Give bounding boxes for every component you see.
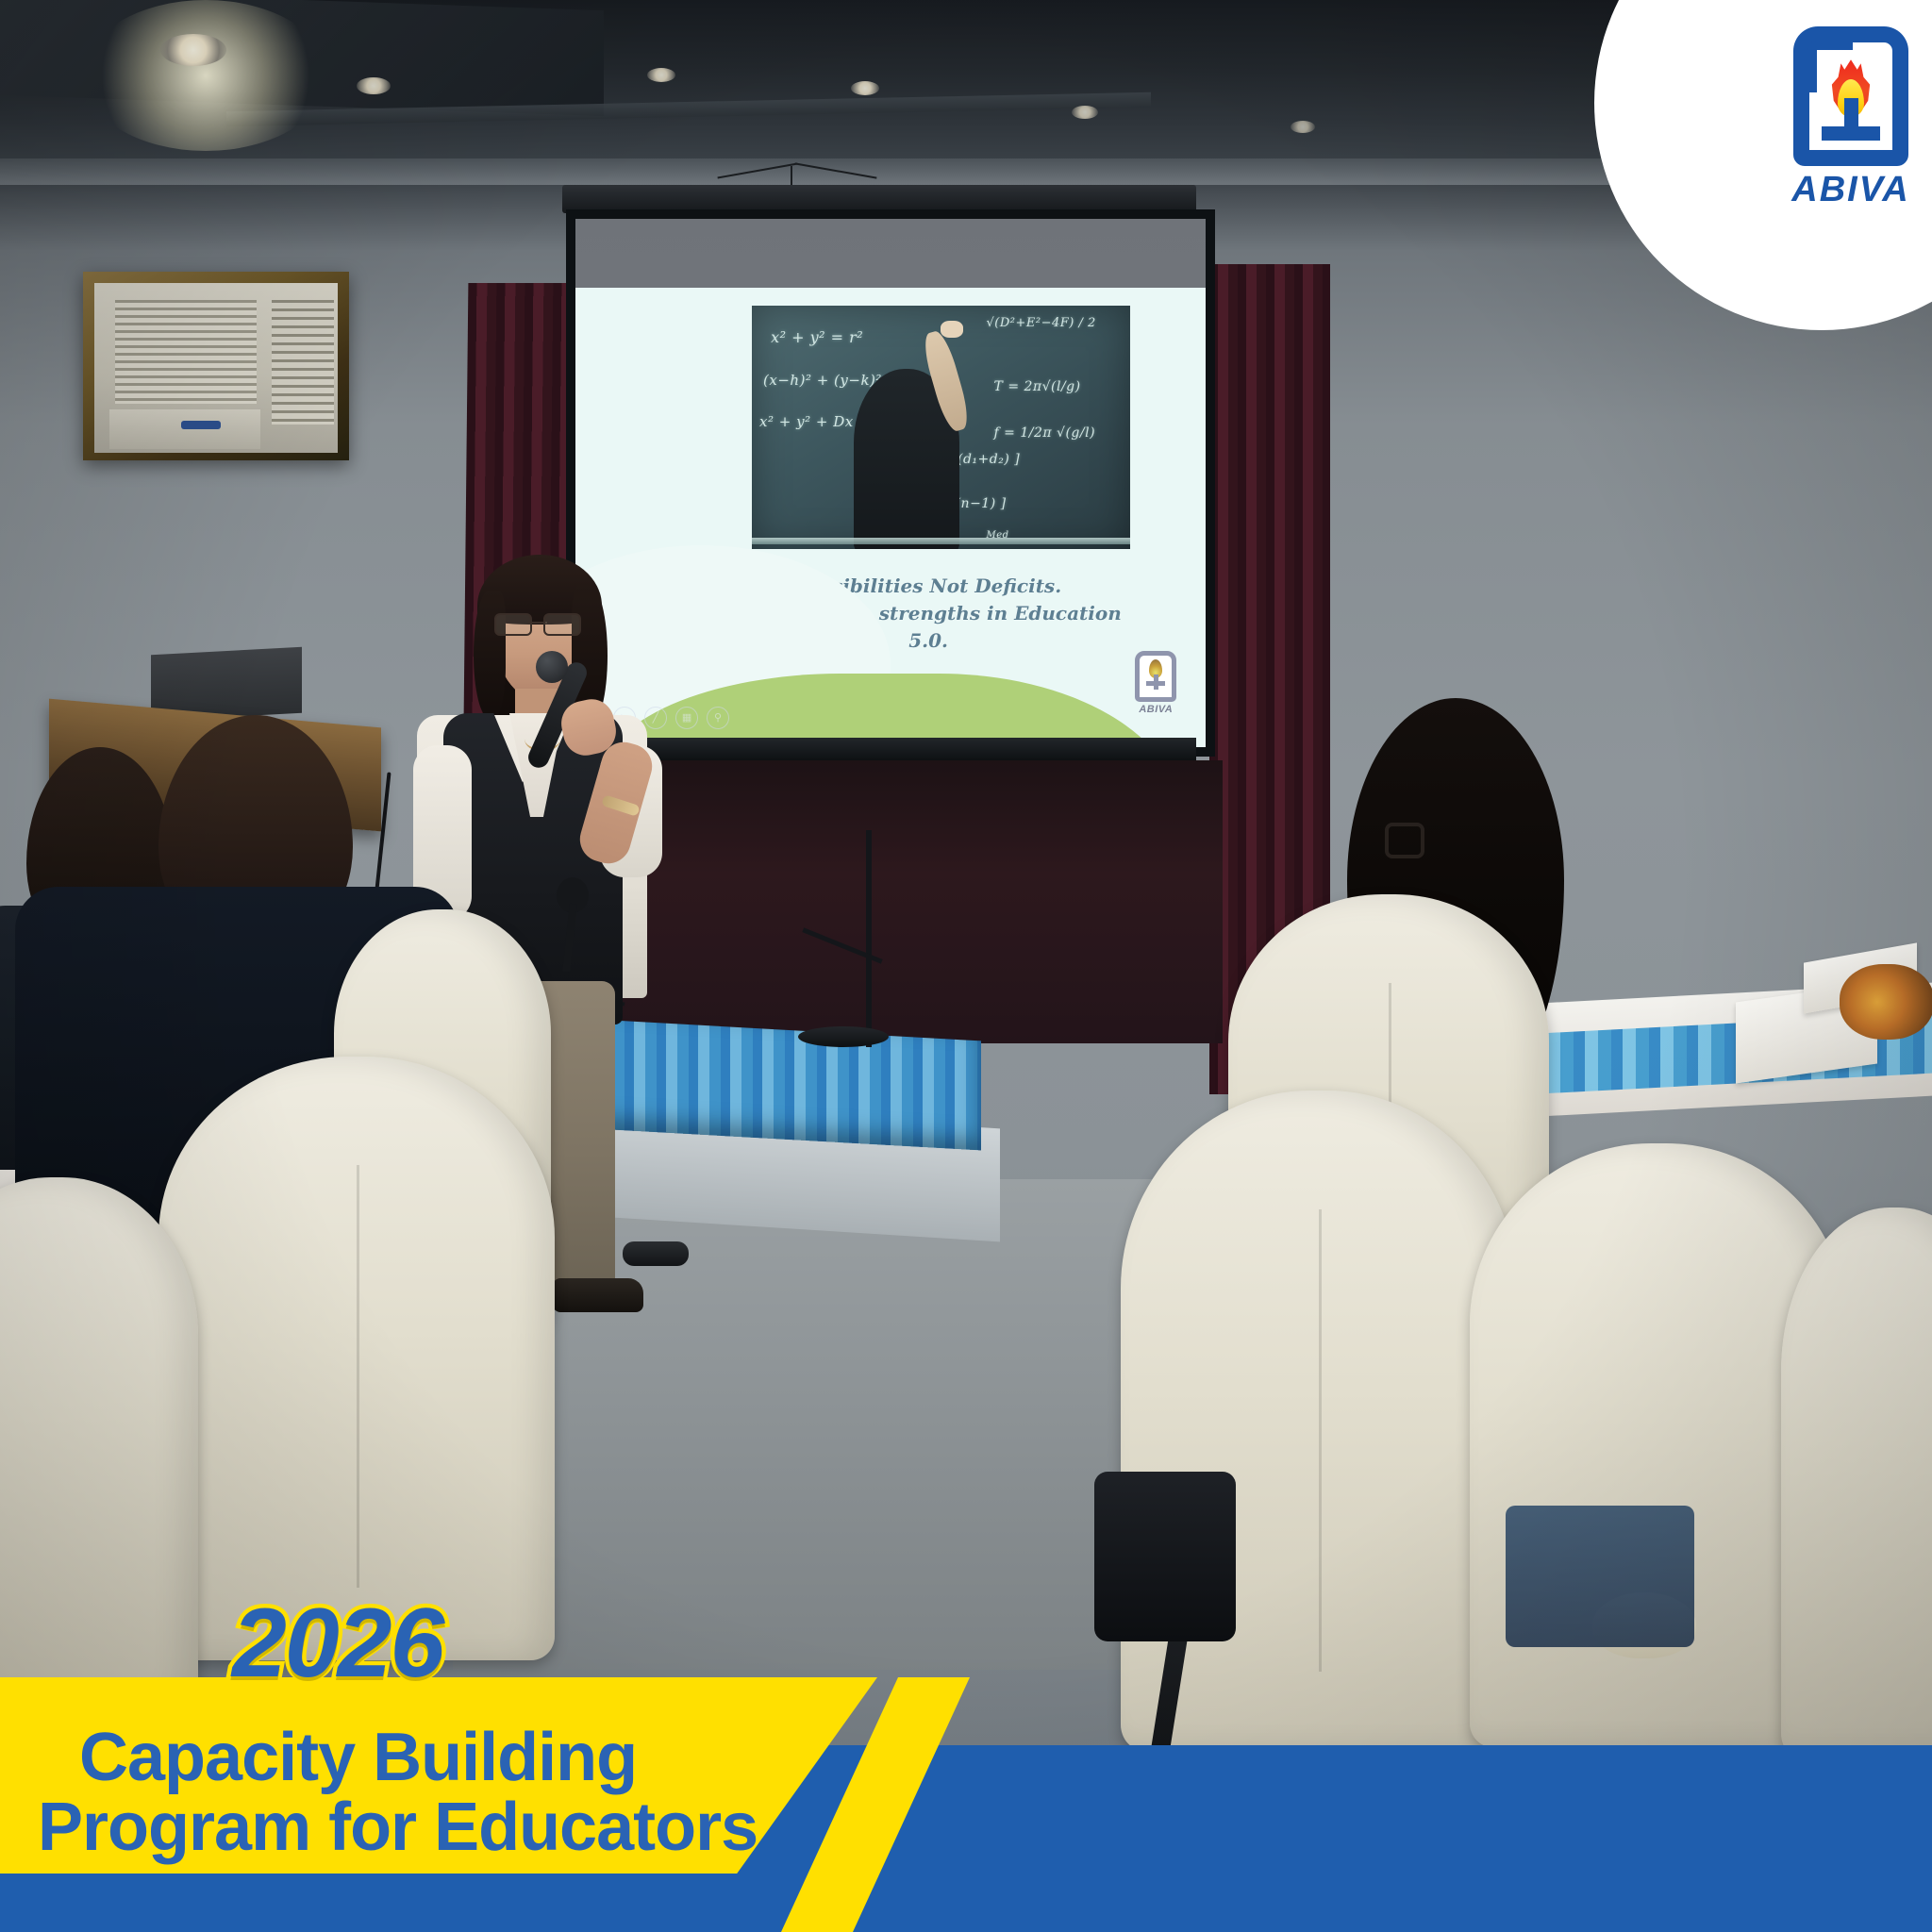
ceiling-light-glow-1 bbox=[83, 0, 328, 151]
abiva-lamp-mark-icon bbox=[1793, 26, 1908, 166]
downlight-3 bbox=[647, 68, 675, 82]
audience-glasses-right-icon bbox=[1385, 823, 1424, 858]
microphone-head-icon bbox=[536, 651, 568, 683]
mic-stand-base bbox=[798, 1026, 889, 1047]
eyeglass-lens-right bbox=[543, 613, 581, 636]
speaker-hair-side-left bbox=[474, 591, 506, 719]
banner-year: 2026 bbox=[232, 1594, 534, 1692]
floor-monitor-device bbox=[623, 1241, 689, 1266]
projection-screen-surface: x² + y² = r² (x−h)² + (y−k)² = r² x² + y… bbox=[575, 219, 1206, 747]
abiva-wordmark: ABIVA bbox=[1757, 170, 1932, 210]
chair-seam bbox=[1319, 1209, 1322, 1672]
air-conditioner-body bbox=[94, 283, 338, 453]
eyeglasses-icon bbox=[494, 613, 581, 634]
audience-jeans-right bbox=[1506, 1506, 1694, 1647]
ac-vent-louvers-right bbox=[272, 300, 334, 425]
slide-abiva-logo: ABIVA bbox=[1131, 651, 1180, 715]
banner-title-line-2: Program for Educators bbox=[38, 1792, 868, 1863]
chair-seam bbox=[357, 1165, 359, 1588]
chalkboard-tray bbox=[752, 538, 1130, 545]
air-conditioner-frame bbox=[83, 272, 349, 460]
equation-6: f = 1/2π √(g/l) bbox=[994, 425, 1096, 441]
downlight-2 bbox=[357, 77, 391, 94]
slide-abiva-mark-icon bbox=[1135, 651, 1176, 702]
table-floral-centerpiece bbox=[1840, 964, 1932, 1040]
chair-left-3 bbox=[0, 1177, 198, 1706]
screen-hanger bbox=[791, 166, 792, 187]
abiva-logo: ABIVA bbox=[1757, 26, 1932, 210]
equation-5: T = 2π√(l/g) bbox=[994, 379, 1081, 394]
projection-screen: x² + y² = r² (x−h)² + (y−k)² = r² x² + y… bbox=[566, 209, 1215, 757]
presentation-slide: x² + y² = r² (x−h)² + (y−k)² = r² x² + y… bbox=[575, 288, 1206, 747]
equation-4: √(D²+E²−4F) / 2 bbox=[987, 316, 1096, 330]
downlight-6 bbox=[1291, 121, 1315, 133]
slide-abiva-wordmark: ABIVA bbox=[1131, 704, 1180, 715]
screenshot-root: x² + y² = r² (x−h)² + (y−k)² = r² x² + y… bbox=[0, 0, 1932, 1932]
slide-chalkboard-photo: x² + y² = r² (x−h)² + (y−k)² = r² x² + y… bbox=[752, 306, 1130, 549]
equation-1: x² + y² = r² bbox=[771, 328, 863, 346]
ac-brand-badge bbox=[181, 421, 221, 429]
eyeglass-lens-left bbox=[494, 613, 532, 636]
chair-right-4 bbox=[1781, 1207, 1932, 1755]
downlight-4 bbox=[851, 81, 879, 95]
ac-lower-panel bbox=[109, 409, 260, 449]
mic-stand-pole bbox=[866, 830, 872, 1047]
chair-left-2 bbox=[158, 1057, 555, 1660]
speaker-shoe bbox=[553, 1278, 643, 1312]
slides-grid-icon[interactable]: ▦ bbox=[675, 707, 698, 729]
slide-abiva-flame-icon bbox=[1149, 659, 1162, 678]
pen-icon[interactable]: ╱ bbox=[644, 707, 667, 729]
downlight-5 bbox=[1072, 106, 1098, 119]
downlight-1 bbox=[160, 34, 226, 66]
chalkboard-teacher-hand bbox=[941, 321, 963, 338]
bag-body bbox=[1094, 1472, 1236, 1641]
magnifier-icon[interactable]: ⚲ bbox=[707, 707, 729, 729]
projection-screen-bottom-bar bbox=[566, 738, 1196, 762]
banner-title-line-1: Capacity Building bbox=[79, 1723, 853, 1793]
abiva-lamp-foot bbox=[1822, 126, 1880, 141]
ac-vent-louvers-left bbox=[115, 300, 257, 404]
